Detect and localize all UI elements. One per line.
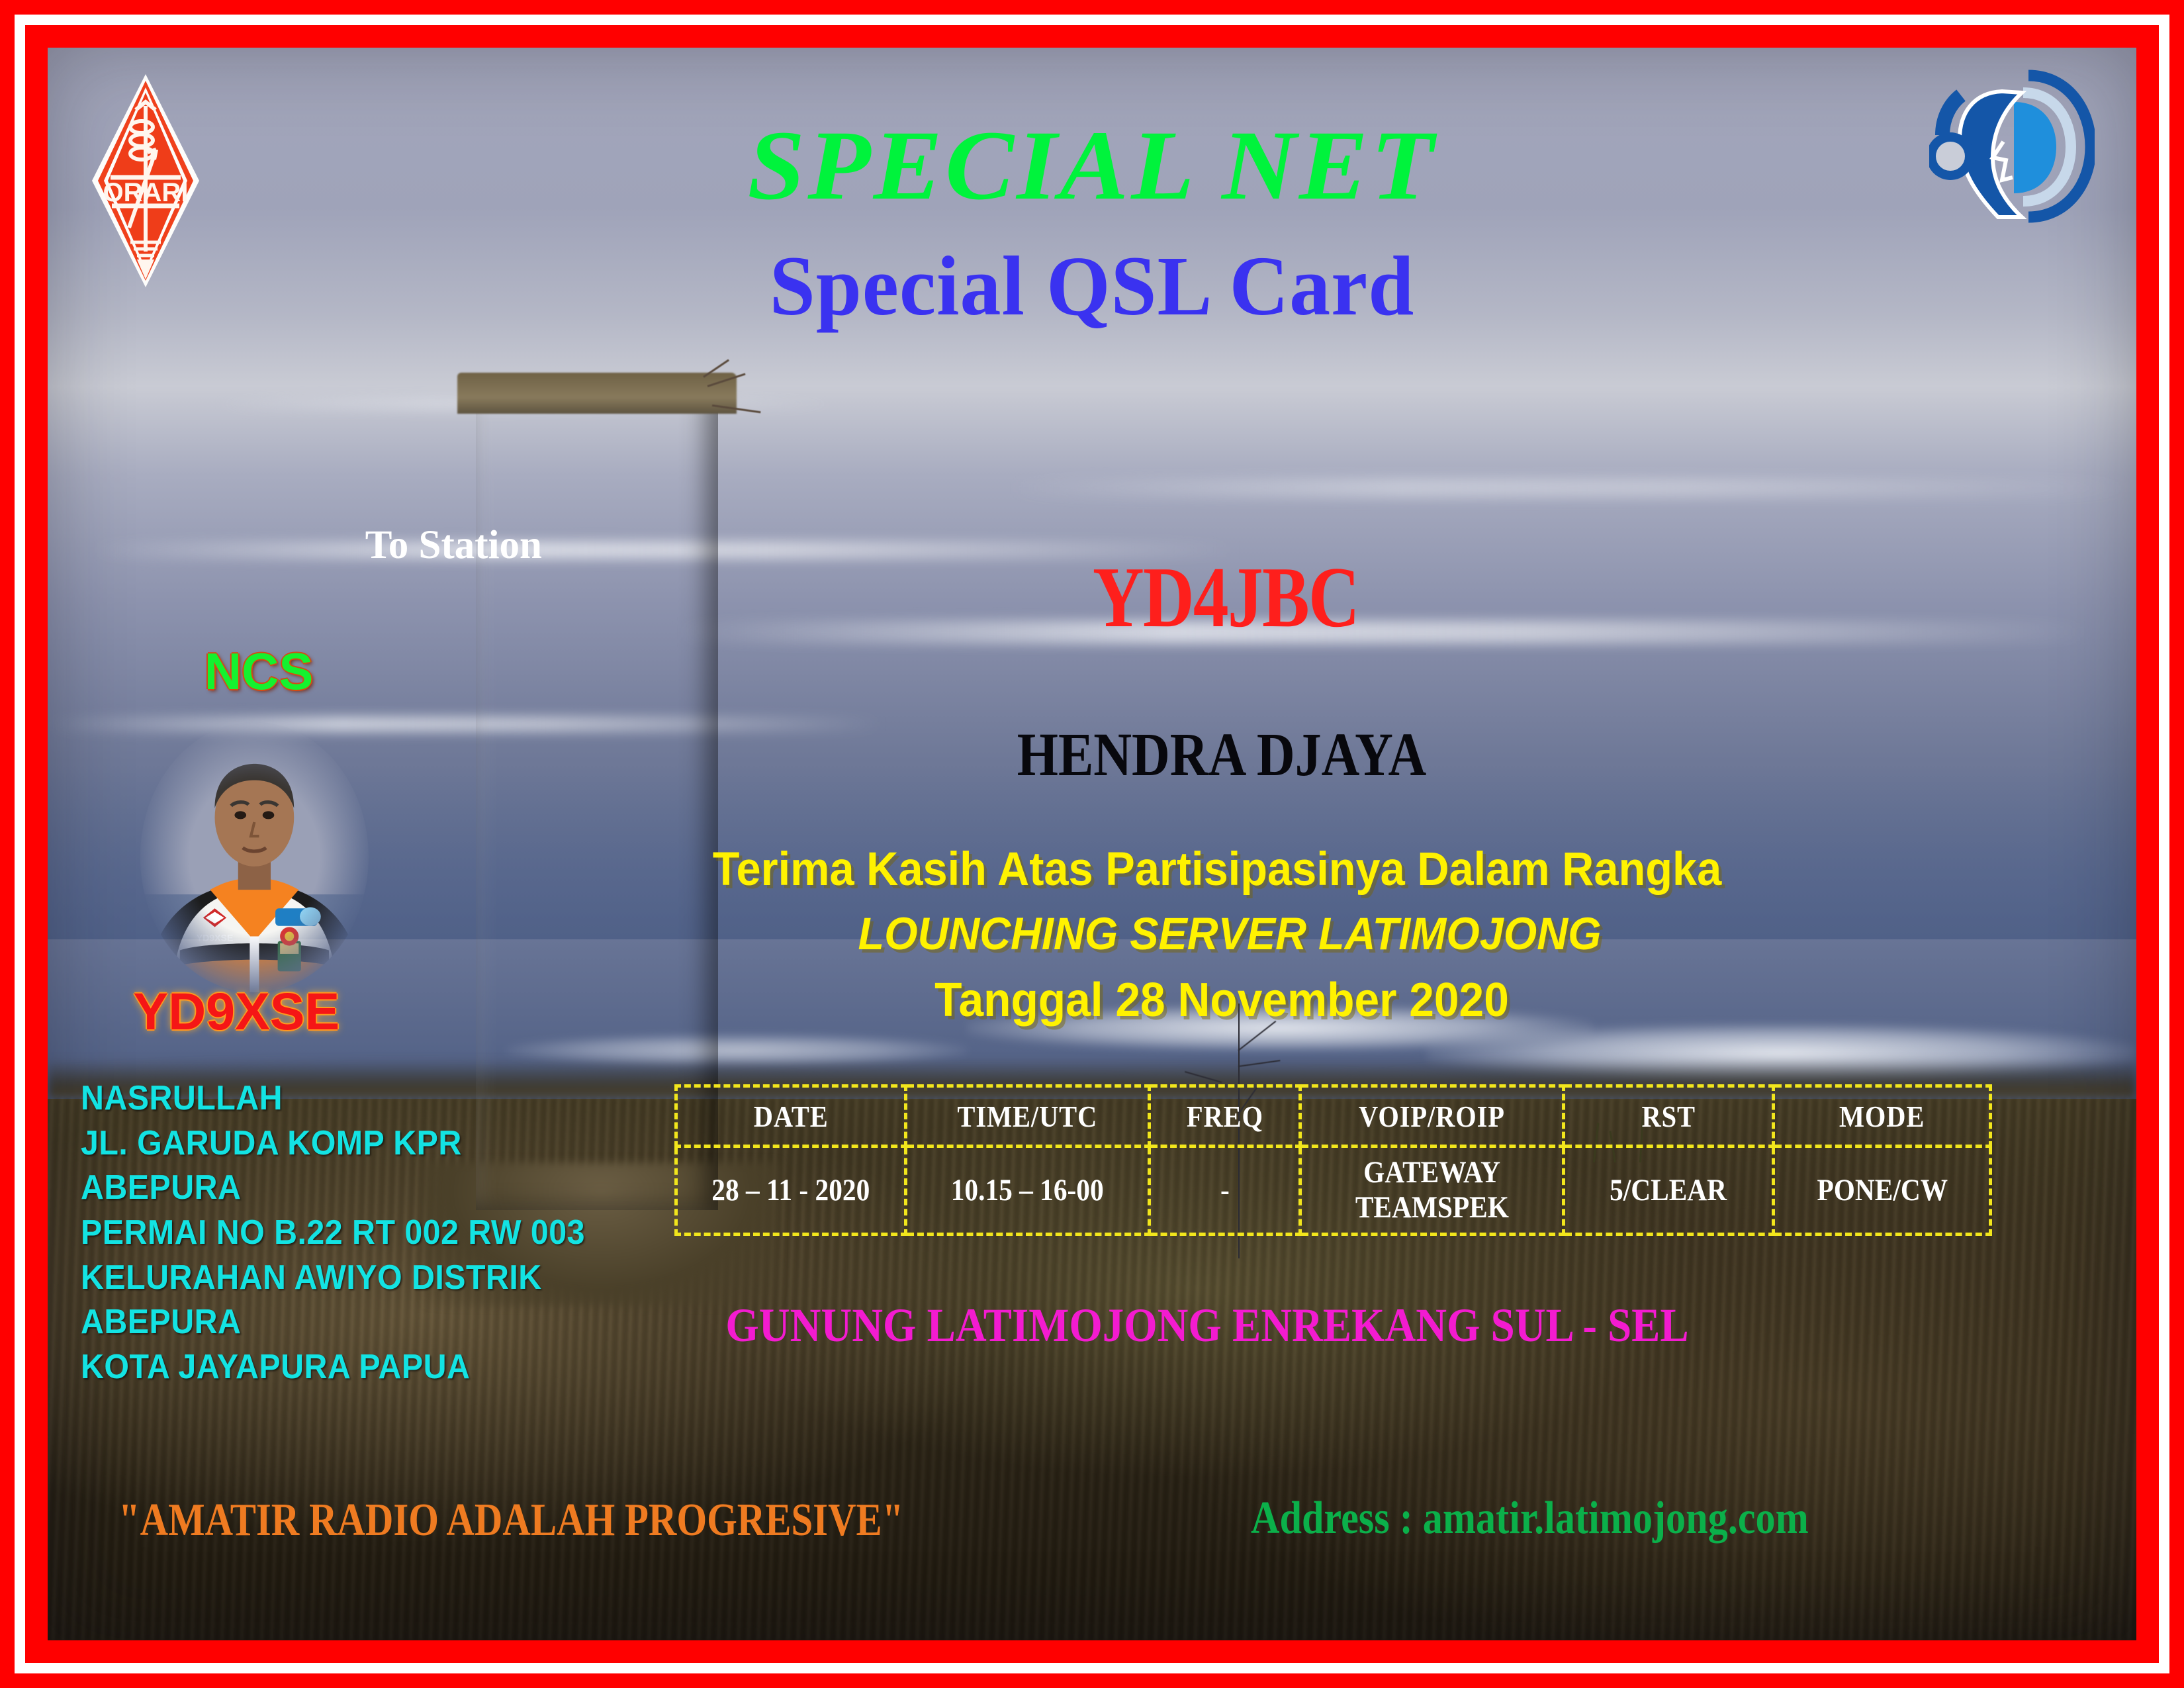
ncs-label: NCS <box>205 641 314 702</box>
thanks-line-3: Tanggal 28 November 2020 <box>934 973 1509 1027</box>
qsl-card: ORARI SPECIAL NET Special QSL Card To St… <box>0 0 2184 1688</box>
cell-time: 10.15 – 16-00 <box>906 1147 1149 1235</box>
cloud-streak <box>1009 478 2136 498</box>
thanks-line-1: Terima Kasih Atas Partisipasinya Dalam R… <box>713 843 1722 896</box>
website-address: Address : amatir.latimojong.com <box>1251 1492 1809 1545</box>
cell-mode: PONE/CW <box>1774 1147 1991 1235</box>
sender-address-block: NASRULLAH JL. GARUDA KOMP KPR ABEPURA PE… <box>81 1076 623 1389</box>
motto-text: "AMATIR RADIO ADALAH PROGRESIVE" <box>118 1494 903 1547</box>
cell-mode-value: PONE/CW <box>1817 1173 1948 1209</box>
cell-time-value: 10.15 – 16-00 <box>951 1173 1104 1209</box>
card-photo-background: ORARI SPECIAL NET Special QSL Card To St… <box>48 48 2136 1640</box>
cairn-cap <box>457 373 737 414</box>
callsign: YD4JBC <box>1093 547 1359 647</box>
address-line: JL. GARUDA KOMP KPR <box>81 1121 585 1166</box>
col-header-time-label: TIME/UTC <box>958 1099 1098 1134</box>
to-station-label: To Station <box>365 522 542 569</box>
table-row: 28 – 11 - 2020 10.15 – 16-00 - GATEWAY T… <box>676 1147 1990 1235</box>
address-line: ABEPURA <box>81 1300 585 1345</box>
table-header-row: DATE TIME/UTC FREQ VOIP/ROIP RST MODE <box>676 1086 1990 1147</box>
col-header-voip-label: VOIP/ROIP <box>1359 1099 1505 1134</box>
col-header-date-label: DATE <box>754 1099 829 1134</box>
cell-voip-value-line2: TEAMSPEK <box>1355 1190 1508 1226</box>
operator-name: HENDRA DJAYA <box>1017 720 1426 790</box>
cell-date-value: 28 – 11 - 2020 <box>712 1173 870 1209</box>
location-line: GUNUNG LATIMOJONG ENREKANG SUL - SEL <box>725 1298 1688 1353</box>
col-header-date: DATE <box>676 1086 906 1147</box>
cell-freq-value: - <box>1220 1173 1230 1209</box>
svg-text:YD9XSE: YD9XSE <box>197 933 234 943</box>
col-header-rst-label: RST <box>1641 1099 1695 1134</box>
address-line: ABEPURA <box>81 1166 585 1211</box>
address-line: KELURAHAN AWIYO DISTRIK <box>81 1256 585 1301</box>
ncs-operator-portrait: YD9XSE <box>102 720 407 994</box>
orari-logo: ORARI <box>89 71 202 290</box>
cell-voip: GATEWAY TEAMSPEK <box>1300 1147 1563 1235</box>
page-subtitle: Special QSL Card <box>770 244 1414 328</box>
page-title: SPECIAL NET <box>747 116 1436 215</box>
cloud-streak <box>674 621 2095 643</box>
qso-log-table: DATE TIME/UTC FREQ VOIP/ROIP RST MODE 28… <box>674 1084 1992 1236</box>
thanks-line-2: LOUNCHING SERVER LATIMOJONG <box>858 908 1602 960</box>
address-line: NASRULLAH <box>81 1076 585 1121</box>
col-header-freq-label: FREQ <box>1187 1099 1263 1134</box>
address-line: PERMAI NO B.22 RT 002 RW 003 <box>81 1211 585 1256</box>
cell-voip-value-line1: GATEWAY <box>1363 1155 1500 1191</box>
cell-rst-value: 5/CLEAR <box>1610 1173 1727 1209</box>
col-header-mode: MODE <box>1774 1086 1991 1147</box>
col-header-freq: FREQ <box>1149 1086 1300 1147</box>
col-header-rst: RST <box>1563 1086 1774 1147</box>
cell-freq: - <box>1149 1147 1300 1235</box>
cell-date: 28 – 11 - 2020 <box>676 1147 906 1235</box>
orari-logo-text: ORARI <box>103 178 189 207</box>
headset-profile-wave-logo <box>1929 64 2095 229</box>
cell-rst: 5/CLEAR <box>1563 1147 1774 1235</box>
col-header-mode-label: MODE <box>1839 1099 1925 1134</box>
address-line: KOTA JAYAPURA PAPUA <box>81 1345 585 1390</box>
col-header-voip: VOIP/ROIP <box>1300 1086 1563 1147</box>
col-header-time: TIME/UTC <box>906 1086 1149 1147</box>
